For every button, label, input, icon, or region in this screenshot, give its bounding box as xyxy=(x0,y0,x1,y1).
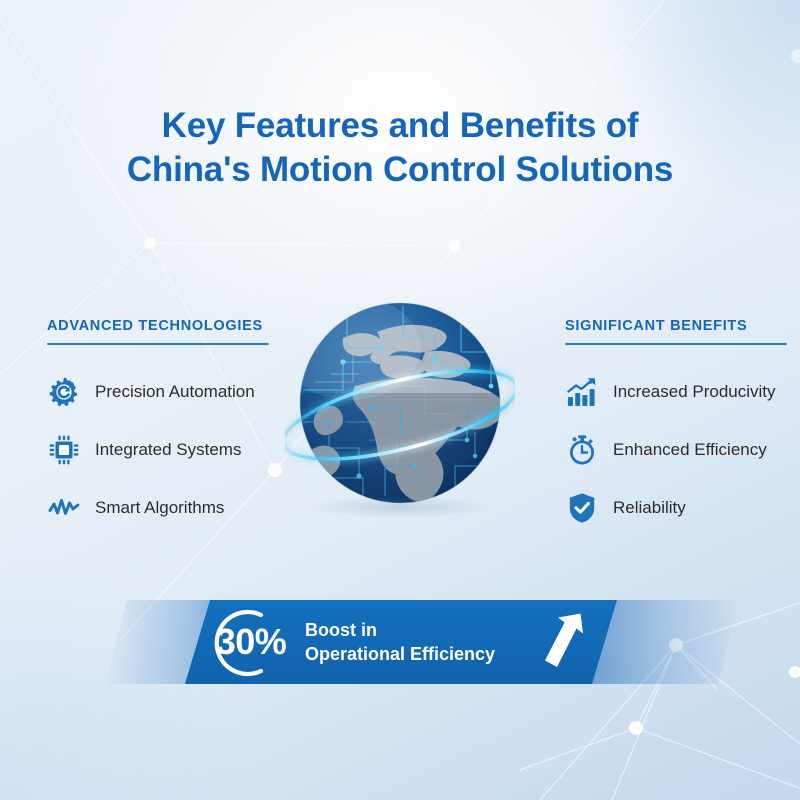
list-item[interactable]: Reliability xyxy=(565,483,787,533)
stat-banner[interactable]: 30% Boost in Operational Efficiency xyxy=(185,600,617,684)
stat-banner-zone: 30% Boost in Operational Efficiency xyxy=(0,600,800,684)
list-item[interactable]: Increased Producivity xyxy=(565,367,787,417)
feature-list-left: Precision Automation xyxy=(47,367,269,533)
infographic-canvas: Key Features and Benefits of China's Mot… xyxy=(0,0,800,800)
list-item-label: Precision Automation xyxy=(95,382,255,402)
page-title: Key Features and Benefits of China's Mot… xyxy=(0,104,800,192)
globe-shadow xyxy=(307,496,493,518)
gear-automation-icon xyxy=(47,375,81,409)
digital-globe-icon xyxy=(285,290,515,520)
stopwatch-icon xyxy=(565,433,599,467)
title-line-1: Key Features and Benefits of xyxy=(0,104,800,148)
banner-headline: Boost in Operational Efficiency xyxy=(305,618,533,667)
list-item-label: Smart Algorithms xyxy=(95,498,224,518)
title-line-2: China's Motion Control Solutions xyxy=(0,148,800,192)
globe-graphic xyxy=(285,290,515,520)
column-heading-left: ADVANCED TECHNOLOGIES xyxy=(47,318,269,334)
column-rule-right xyxy=(565,343,787,345)
column-heading-right: SIGNIFICANT BENEFITS xyxy=(565,318,787,334)
list-item[interactable]: Smart Algorithms xyxy=(47,483,269,533)
list-item-label: Reliability xyxy=(613,498,686,518)
column-advanced-technologies: ADVANCED TECHNOLOGIES Precision Automati… xyxy=(47,318,269,541)
list-item[interactable]: Integrated Systems xyxy=(47,425,269,475)
list-item-label: Increased Producivity xyxy=(613,382,776,402)
shield-check-icon xyxy=(565,491,599,525)
list-item[interactable]: Precision Automation xyxy=(47,367,269,417)
banner-headline-line-1: Boost in xyxy=(305,618,533,642)
column-significant-benefits: SIGNIFICANT BENEFITS Increased Producivi… xyxy=(565,318,787,541)
column-rule-left xyxy=(47,343,269,345)
bar-chart-growth-icon xyxy=(565,375,599,409)
banner-headline-line-2: Operational Efficiency xyxy=(305,642,533,666)
list-item-label: Integrated Systems xyxy=(95,440,241,460)
feature-list-right: Increased Producivity Enhanced Efficienc… xyxy=(565,367,787,533)
microchip-icon xyxy=(47,433,81,467)
waveform-icon xyxy=(47,491,81,525)
list-item-label: Enhanced Efficiency xyxy=(613,440,767,460)
up-arrow-icon xyxy=(533,607,595,677)
list-item[interactable]: Enhanced Efficiency xyxy=(565,425,787,475)
